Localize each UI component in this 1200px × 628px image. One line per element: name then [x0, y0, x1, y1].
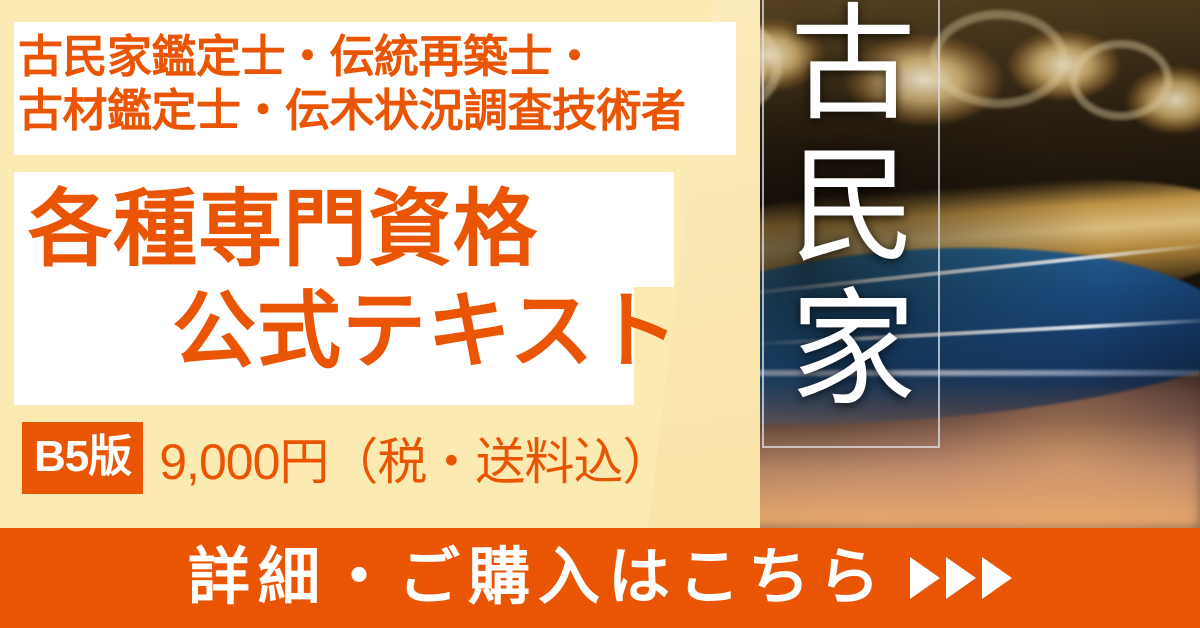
- price-row: B5版 9,000円（税・送料込）: [22, 422, 671, 494]
- headline-text: 各種専門資格 公式テキスト: [14, 178, 674, 383]
- book-title-char-3: 家: [764, 281, 942, 423]
- book-title-vertical: 古 民 家: [764, 0, 942, 423]
- book-cover-frame: 古 民 家: [762, 0, 940, 448]
- headline-line-2: 公式テキスト: [14, 280, 674, 382]
- promo-banner: 伝統構法、古民家活用のための調査と再生の 古 民 家 古民家鑑定士・伝統再築士・…: [0, 0, 1200, 628]
- chevron-right-icon: [982, 557, 1012, 599]
- book-title-char-1: 古: [764, 0, 942, 138]
- cta-bar[interactable]: 詳細・ご購入はこちら: [0, 528, 1200, 628]
- chevron-right-icon: [910, 557, 940, 599]
- price-amount: 9,000円（税・送料込）: [159, 422, 671, 494]
- cta-arrows: [910, 557, 1012, 599]
- headline-line-1: 各種専門資格: [14, 178, 674, 280]
- cta-label: 詳細・ご購入はこちら: [188, 547, 888, 609]
- certifications-text: 古民家鑑定士・伝統再築士・ 古材鑑定士・伝木状況調査技術者: [18, 30, 734, 138]
- chevron-right-icon: [946, 557, 976, 599]
- certifications-line-1: 古民家鑑定士・伝統再築士・: [18, 30, 734, 84]
- format-badge: B5版: [22, 422, 143, 494]
- book-title-char-2: 民: [764, 138, 942, 280]
- certifications-line-2: 古材鑑定士・伝木状況調査技術者: [18, 84, 734, 138]
